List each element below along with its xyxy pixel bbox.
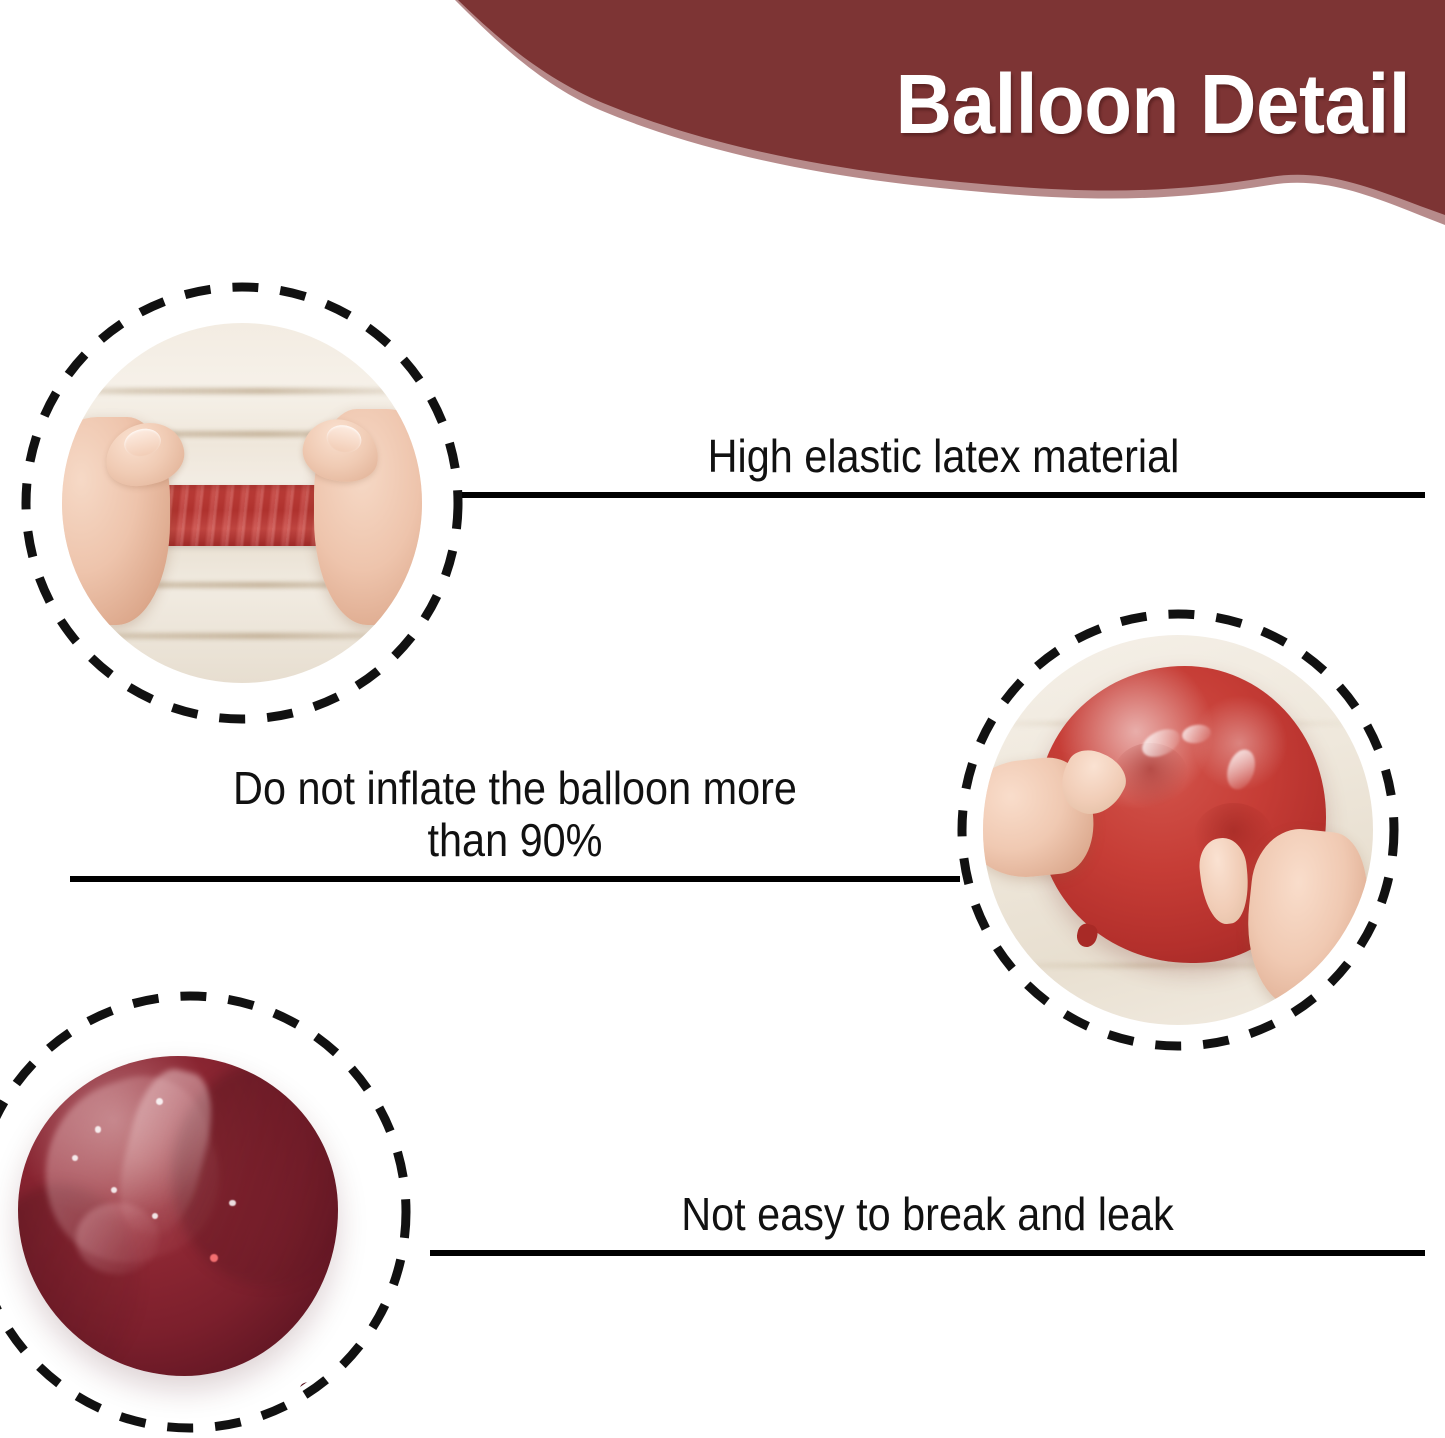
- burgundy-balloon: [18, 1056, 338, 1376]
- specular-dot: [111, 1187, 117, 1193]
- specular-dot: [229, 1200, 235, 1206]
- latex-stretch-photo: [62, 323, 422, 683]
- balloon-highlight: [1181, 723, 1213, 746]
- caption-rule-inflation: [70, 876, 960, 882]
- specular-dot: [95, 1126, 101, 1132]
- caption-rule-elastic: [462, 492, 1425, 498]
- balloon-press-photo: [983, 635, 1373, 1025]
- latex-stretch-scene: [62, 323, 422, 683]
- specular-dot: [156, 1098, 163, 1105]
- caption-group-inflation: Do not inflate the balloon more than 90%: [70, 762, 960, 882]
- balloon-knot: [297, 1380, 320, 1406]
- caption-rule-durability: [430, 1250, 1425, 1256]
- thumbnail: [122, 425, 164, 460]
- caption-text-durability: Not easy to break and leak: [480, 1188, 1376, 1240]
- thumbnail: [324, 422, 364, 456]
- specular-dot: [152, 1213, 158, 1219]
- wood-grain-line: [62, 388, 422, 394]
- caption-group-elastic: High elastic latex material: [462, 430, 1425, 498]
- caption-text-inflation-line2: than 90%: [115, 814, 916, 866]
- caption-group-durability: Not easy to break and leak: [430, 1188, 1425, 1256]
- balloon-press-scene: [983, 635, 1373, 1025]
- balloon-knot: [1074, 922, 1099, 949]
- balloon-highlight: [1222, 746, 1260, 793]
- specular-dot: [210, 1254, 218, 1262]
- burgundy-balloon-photo: [0, 1020, 390, 1420]
- caption-text-elastic: High elastic latex material: [510, 430, 1377, 482]
- wood-grain-line: [62, 633, 422, 639]
- balloon-reflection: [76, 1203, 159, 1273]
- caption-text-inflation-line1: Do not inflate the balloon more: [115, 762, 916, 814]
- red-latex-strip: [141, 485, 343, 546]
- balloon-detail-infographic: { "page": { "title": "Balloon Detail", "…: [0, 0, 1445, 1438]
- burgundy-balloon-scene: [0, 1020, 390, 1420]
- page-title: Balloon Detail: [750, 52, 1410, 156]
